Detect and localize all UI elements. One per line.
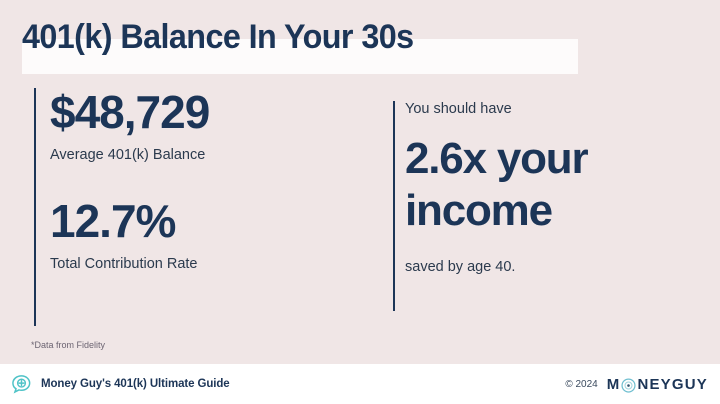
stat-block-contribution-rate: 12.7% Total Contribution Rate	[50, 195, 350, 274]
message-headline-line-1: 2.6x your	[405, 133, 695, 185]
footer-bar: Money Guy's 401(k) Ultimate Guide © 2024…	[0, 364, 720, 404]
moneyguy-wordmark: M NEYGUY	[607, 376, 708, 393]
data-source-footnote: *Data from Fidelity	[31, 339, 105, 351]
message-headline-line-2: income	[405, 185, 695, 237]
copyright-text: © 2024	[565, 379, 597, 390]
infographic-canvas: 401(k) Balance In Your 30s $48,729 Avera…	[0, 0, 720, 404]
message-lead-in: You should have	[405, 99, 695, 119]
footer-right-group: © 2024 M NEYGUY	[565, 376, 708, 393]
message-headline: 2.6x your income	[405, 133, 695, 237]
right-message-column: You should have 2.6x your income saved b…	[405, 99, 695, 277]
stat-value-average-balance: $48,729	[50, 86, 350, 138]
left-column-divider	[34, 88, 36, 326]
speech-bubble-plus-icon	[11, 374, 32, 395]
footer-guide-title[interactable]: Money Guy's 401(k) Ultimate Guide	[41, 378, 230, 390]
stat-label-average-balance: Average 401(k) Balance	[50, 145, 350, 165]
brand-suffix-text: NEYGUY	[637, 376, 708, 393]
brand-prefix-text: M	[607, 376, 621, 393]
page-title-text: 401(k) Balance In Your 30s	[22, 16, 414, 58]
right-column-divider	[393, 101, 395, 311]
stat-value-contribution-rate: 12.7%	[50, 195, 350, 247]
stat-block-average-balance: $48,729 Average 401(k) Balance	[50, 86, 350, 165]
page-title: 401(k) Balance In Your 30s	[22, 16, 434, 62]
target-circle-icon	[621, 378, 636, 393]
stat-label-contribution-rate: Total Contribution Rate	[50, 254, 350, 274]
left-stats-column: $48,729 Average 401(k) Balance 12.7% Tot…	[50, 86, 350, 274]
message-trailing-text: saved by age 40.	[405, 257, 695, 277]
footer-left-group: Money Guy's 401(k) Ultimate Guide	[11, 374, 230, 395]
